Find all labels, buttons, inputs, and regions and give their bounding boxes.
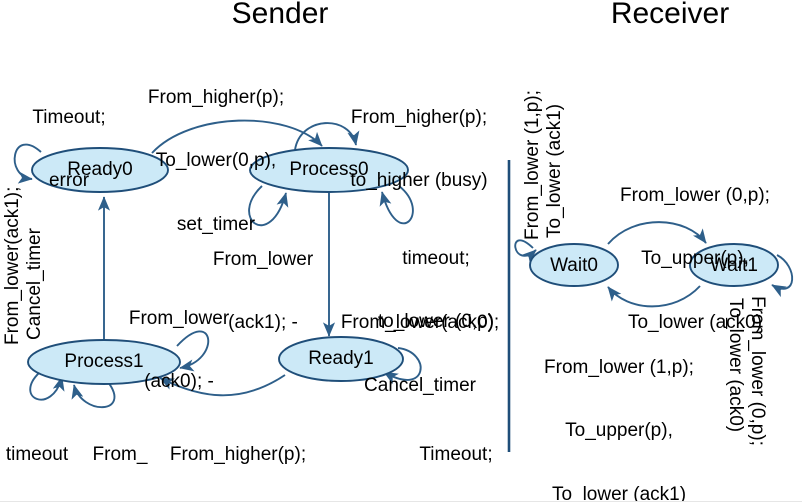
label-line: From_lower (0,p);: [600, 185, 790, 206]
label-line: Timeout;: [4, 107, 134, 128]
label-line: To_lower(0,p),: [126, 150, 306, 171]
label-line: (ack0); -: [104, 371, 254, 392]
label-wait1-to-wait0: From_lower (1,p); To_upper(p), To_lower …: [524, 314, 714, 502]
label-line: timeout: [0, 444, 76, 465]
label-line: To_upper(p),: [524, 420, 714, 441]
label-line: Timeout;: [396, 444, 516, 465]
label-ready1-self: Timeout; error: [396, 401, 516, 502]
label-line: To_lower (ack1): [524, 484, 714, 502]
receiver-title: Receiver: [560, 0, 780, 30]
label-line: From_higher(p);: [329, 107, 509, 128]
label-line: to_higher (busy): [329, 170, 509, 191]
label-line: From_higher(p);: [152, 444, 324, 465]
label-line: From_higher(p);: [126, 87, 306, 108]
label-line: error: [4, 170, 134, 191]
sender-title: Sender: [160, 0, 400, 30]
label-line: timeout;: [356, 248, 516, 269]
label-wait0-self-line2: To_lower (ack1): [544, 53, 565, 238]
label-wait1-self-line1: From_lower (0,p);: [747, 296, 768, 482]
label-ready1-to-process1: From_higher(p); To_lower(1,p), set_timer: [152, 401, 324, 502]
label-wait1-self-line2: To_lower (ack0): [725, 298, 746, 480]
label-process1-to-ready0-line2: Cancel_timer: [24, 190, 45, 340]
label-wait0-self-line1: From_lower (1,p);: [522, 50, 543, 240]
label-process1-to-ready0-line1: From_lower(ack1);: [2, 185, 23, 345]
state-diagram-canvas: Sender Receiver Ready0 Process0 Process1…: [0, 0, 802, 502]
label-line: From_lower (1,p);: [524, 357, 714, 378]
label-line: From_lower(ack0);: [330, 312, 510, 333]
label-line: To_upper(p),: [600, 248, 790, 269]
label-process1-self-left: timeout ; …: [0, 401, 76, 502]
label-line: Cancel_timer: [330, 375, 510, 396]
label-line: From_lower: [104, 308, 254, 329]
